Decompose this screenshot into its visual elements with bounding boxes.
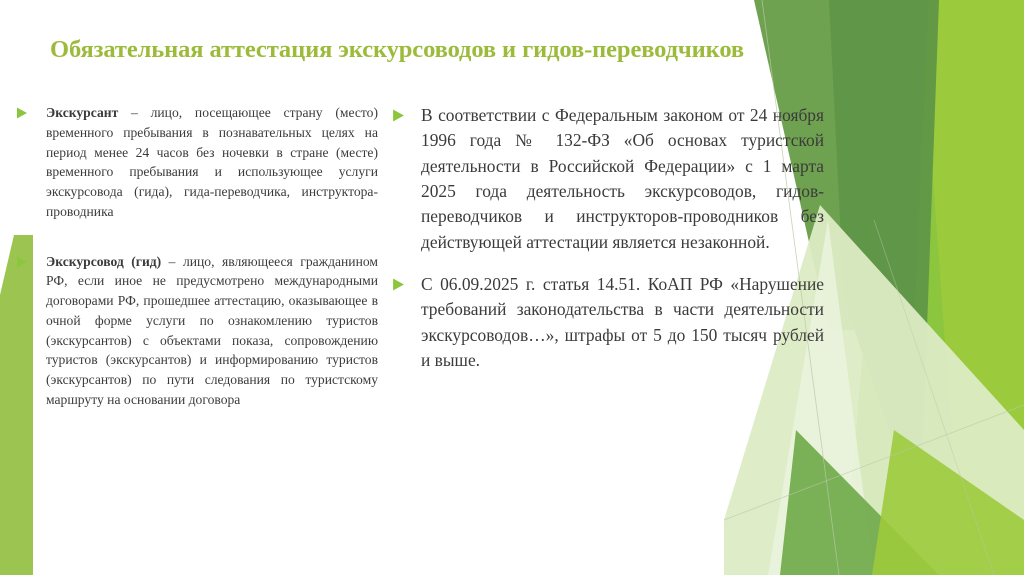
content-column-left: Экскурсант – лицо, посещающее страну (ме… bbox=[10, 103, 378, 440]
deco-shape-lower-bright bbox=[872, 430, 1024, 575]
bullet-item: Экскурсовод (гид) – лицо, являющееся гра… bbox=[10, 252, 378, 410]
bullet-text: Экскурсант – лицо, посещающее страну (ме… bbox=[46, 103, 378, 222]
deco-hairline-3 bbox=[874, 220, 994, 575]
bullet-item: В соответствии с Федеральным законом от … bbox=[392, 103, 824, 255]
triangle-right-icon bbox=[16, 256, 28, 268]
bullet-item: Экскурсант – лицо, посещающее страну (ме… bbox=[10, 103, 378, 222]
triangle-right-icon bbox=[392, 109, 404, 121]
bullet-text: В соответствии с Федеральным законом от … bbox=[421, 103, 824, 255]
bullet-lead-term: Экскурсант bbox=[46, 105, 118, 120]
deco-shape-yellowgreen bbox=[920, 0, 1024, 575]
content-column-right: В соответствии с Федеральным законом от … bbox=[392, 103, 824, 390]
deco-shape-deep-green bbox=[829, 0, 939, 520]
triangle-right-icon bbox=[16, 107, 28, 119]
bullet-text: Экскурсовод (гид) – лицо, являющееся гра… bbox=[46, 252, 378, 410]
triangle-right-icon bbox=[392, 278, 404, 290]
bullet-lead-term: Экскурсовод (гид) bbox=[46, 254, 161, 269]
bullet-item: С 06.09.2025 г. статья 14.51. КоАП РФ «Н… bbox=[392, 272, 824, 373]
deco-shape-bright-right bbox=[844, 0, 1024, 575]
bullet-text: С 06.09.2025 г. статья 14.51. КоАП РФ «Н… bbox=[421, 272, 824, 373]
bullet-definition: – лицо, посещающее страну (место) времен… bbox=[46, 105, 378, 219]
bullet-definition: – лицо, являющееся гражданином РФ, если … bbox=[46, 254, 378, 407]
page-title: Обязательная аттестация экскурсоводов и … bbox=[50, 36, 820, 64]
slide-canvas: Обязательная аттестация экскурсоводов и … bbox=[0, 0, 1024, 575]
deco-shape-lower-medium bbox=[780, 430, 939, 575]
deco-hairline-2 bbox=[724, 405, 1024, 520]
